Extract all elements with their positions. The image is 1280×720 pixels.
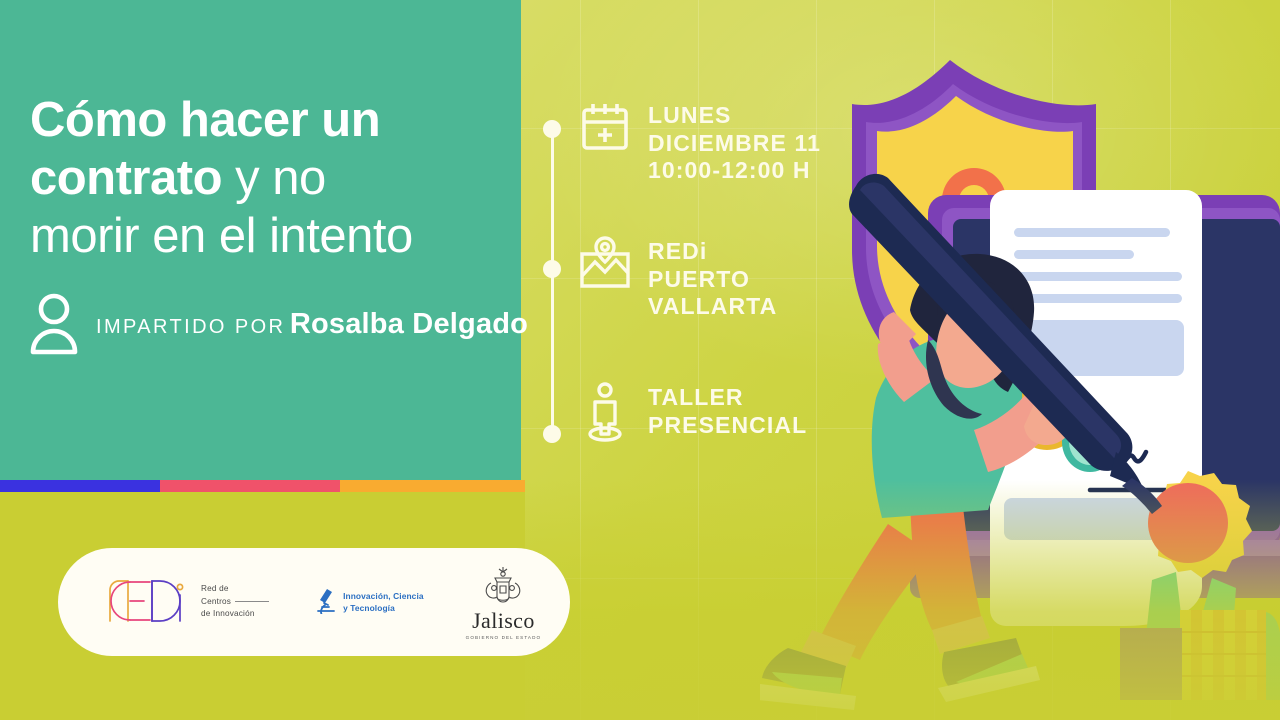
detail-location-text: REDi PUERTO VALLARTA: [648, 236, 777, 321]
speaker-text: IMPARTIDO POR Rosalba Delgado: [96, 306, 528, 342]
logo-jalisco: Jalisco GOBIERNO DEL ESTADO: [466, 565, 542, 640]
speaker-block: IMPARTIDO POR Rosalba Delgado: [28, 292, 528, 356]
stripe-segment-blue: [0, 480, 160, 492]
timeline-rail: [548, 120, 556, 440]
microscope-icon: [315, 586, 337, 619]
detail-date-line-2: DICIEMBRE 11: [648, 130, 821, 158]
title-line-1: Cómo hacer un: [30, 93, 380, 147]
redi-text-line-2: Centros: [201, 596, 231, 609]
logo-redi: Red de Centros de Innovación: [106, 577, 269, 628]
stripe-segment-pink: [160, 480, 340, 492]
map-location-icon: [578, 236, 632, 288]
detail-location-line-1: REDi: [648, 238, 777, 266]
detail-date-text: LUNES DICIEMBRE 11 10:00-12:00 H: [648, 100, 821, 185]
redi-logo-text: Red de Centros de Innovación: [201, 583, 269, 621]
timeline-dot-1: [543, 120, 561, 138]
redi-text-line-2-wrap: Centros: [201, 596, 269, 609]
ict-logo-text: Innovación, Ciencia y Tecnología: [343, 590, 424, 614]
jalisco-coat-of-arms: [477, 592, 529, 609]
logo-innovacion-ciencia-tecnologia: Innovación, Ciencia y Tecnología: [315, 586, 424, 619]
detail-item-location: REDi PUERTO VALLARTA: [578, 236, 878, 321]
detail-format-line-2: PRESENCIAL: [648, 412, 807, 440]
speaker-name: Rosalba Delgado: [290, 308, 528, 340]
detail-format-line-1: TALLER: [648, 384, 807, 412]
speaker-label: IMPARTIDO POR: [96, 316, 285, 338]
logo-card: Red de Centros de Innovación Innovación,…: [58, 548, 570, 656]
detail-date-line-3: 10:00-12:00 H: [648, 157, 821, 185]
redi-rule: [235, 601, 269, 602]
detail-location-line-3: VALLARTA: [648, 293, 777, 321]
page-title: Cómo hacer un contrato y no morir en el …: [30, 92, 510, 265]
person-icon: [28, 292, 80, 356]
ict-text-line-2: y Tecnología: [343, 603, 395, 613]
redi-logo-mark: [106, 577, 192, 628]
title-line-2-bold: contrato: [30, 151, 222, 205]
timeline-line: [551, 128, 554, 433]
detail-format-text: TALLER PRESENCIAL: [648, 382, 807, 439]
calendar-plus-icon: [578, 100, 632, 152]
title-line-3: morir en el intento: [30, 209, 413, 263]
stripe-segment-orange: [340, 480, 525, 492]
jalisco-name: Jalisco: [466, 608, 542, 634]
ict-text-line-1: Innovación, Ciencia: [343, 591, 424, 601]
jalisco-subtitle: GOBIERNO DEL ESTADO: [466, 635, 542, 640]
detail-date-line-1: LUNES: [648, 102, 821, 130]
title-line-2-light: y no: [222, 151, 326, 205]
detail-item-format: TALLER PRESENCIAL: [578, 382, 878, 442]
timeline-dot-2: [543, 260, 561, 278]
redi-text-line-1: Red de: [201, 583, 269, 596]
timeline-dot-3: [543, 425, 561, 443]
accent-stripe: [0, 480, 525, 492]
poster-canvas: B $: [0, 0, 1280, 720]
standing-person-icon: [578, 382, 632, 442]
redi-text-line-3: de Innovación: [201, 608, 269, 621]
detail-location-line-2: PUERTO: [648, 266, 777, 294]
detail-item-date: LUNES DICIEMBRE 11 10:00-12:00 H: [578, 100, 878, 185]
